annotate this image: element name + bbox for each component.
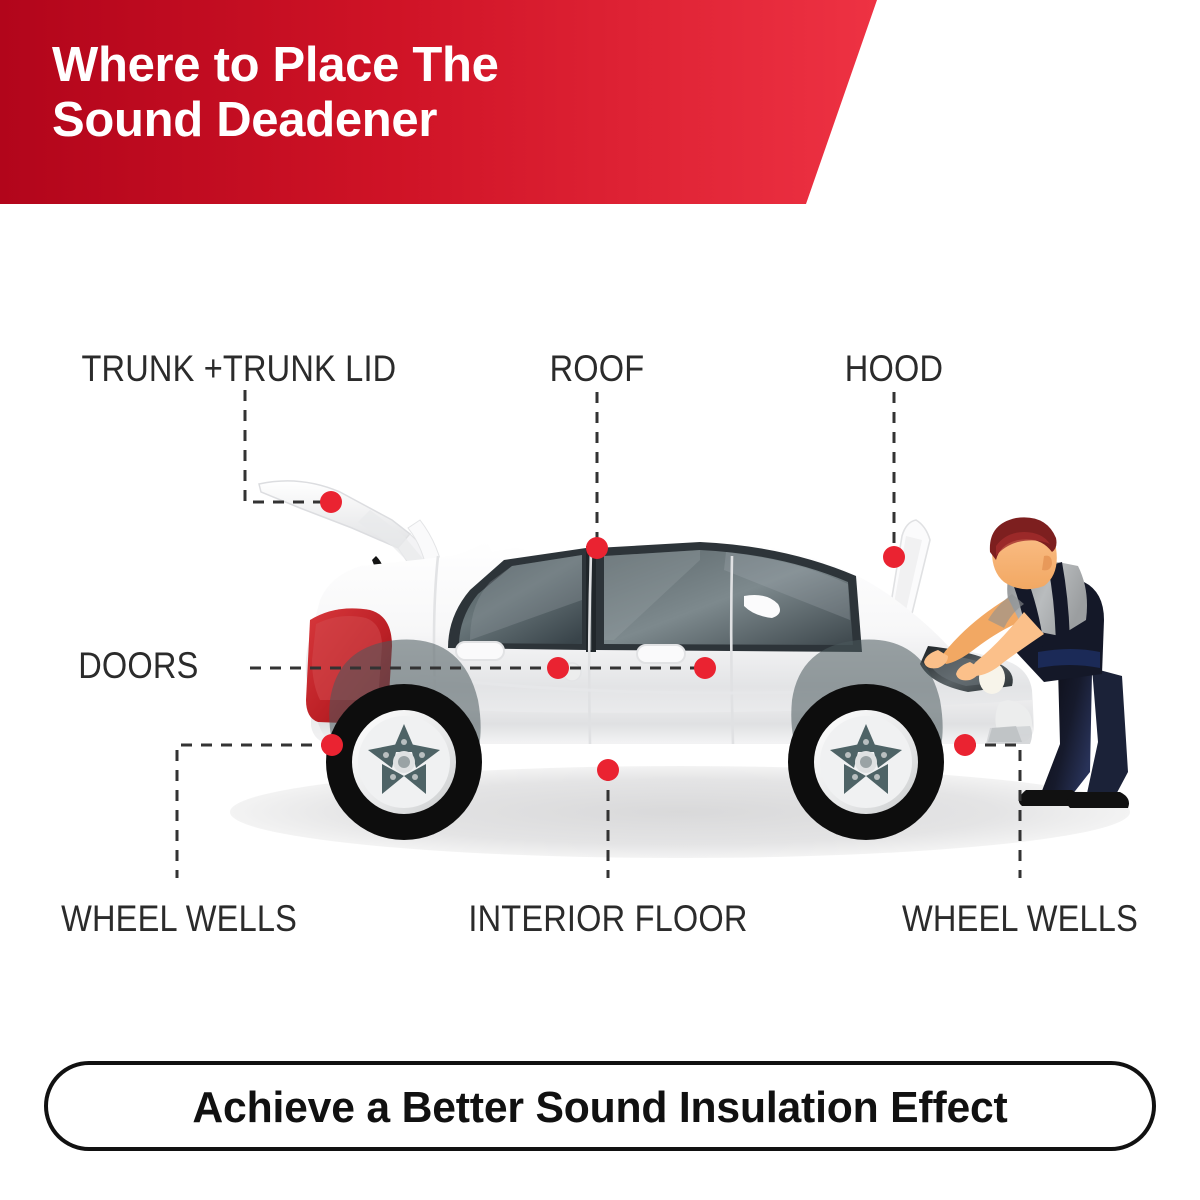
dot-interior-floor — [597, 759, 619, 781]
dot-doors-front — [694, 657, 716, 679]
dot-roof — [586, 537, 608, 559]
car-illustration — [0, 0, 1200, 1200]
infographic-canvas: Where to Place The Sound Deadener — [0, 0, 1200, 1200]
dot-wheel-wells-rear — [321, 734, 343, 756]
callout-label-interior-floor: INTERIOR FLOOR — [468, 898, 747, 940]
footer-text: Achieve a Better Sound Insulation Effect — [65, 1083, 1136, 1133]
dot-hood — [883, 546, 905, 568]
dot-wheel-wells-front — [954, 734, 976, 756]
dot-trunk — [320, 491, 342, 513]
callout-label-wheel-wells-rear: WHEEL WELLS — [61, 898, 297, 940]
footer-banner: Achieve a Better Sound Insulation Effect — [44, 1061, 1156, 1151]
dot-doors-rear — [547, 657, 569, 679]
callout-label-hood: HOOD — [845, 348, 943, 390]
callout-label-roof: ROOF — [550, 348, 645, 390]
callout-label-trunk: TRUNK +TRUNK LID — [81, 348, 396, 390]
front-wheel — [788, 640, 944, 841]
callout-label-wheel-wells-front: WHEEL WELLS — [902, 898, 1138, 940]
callout-label-doors: DOORS — [78, 645, 198, 687]
rear-wheel — [326, 640, 482, 841]
